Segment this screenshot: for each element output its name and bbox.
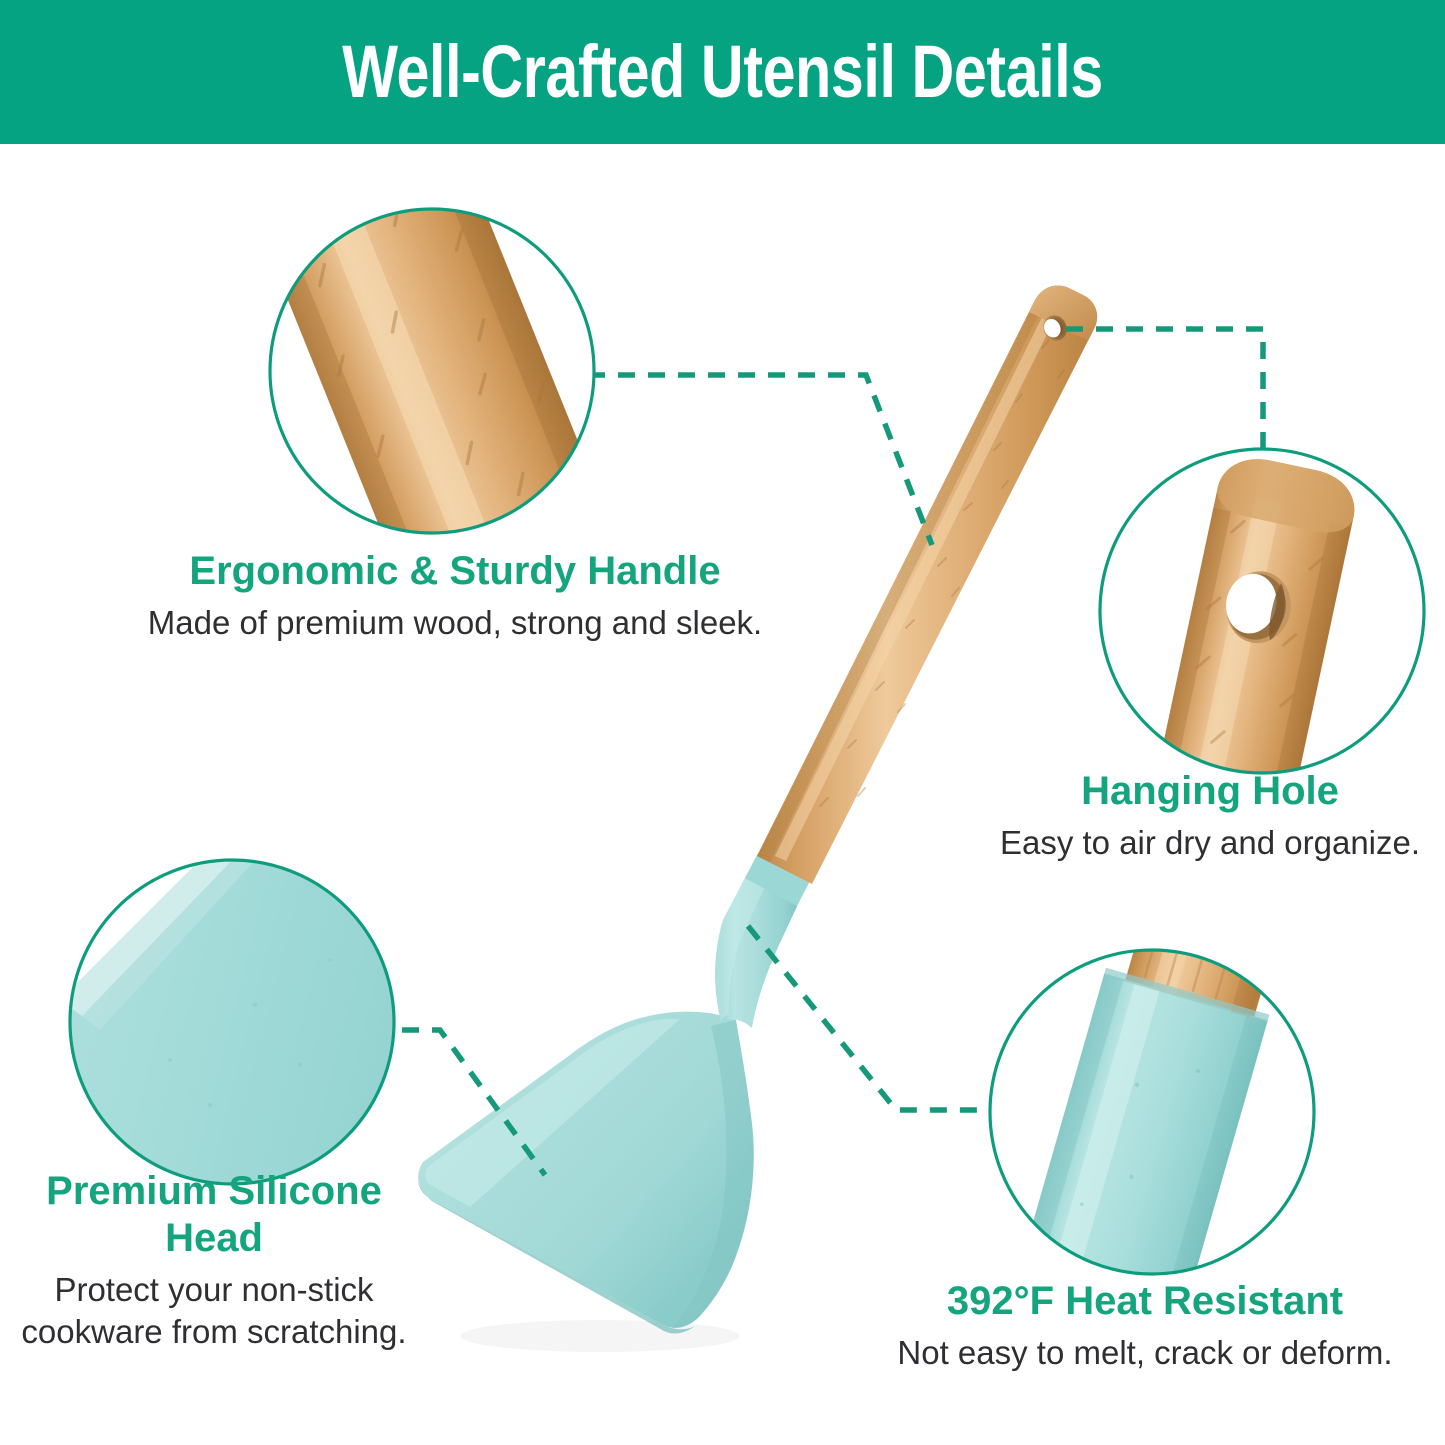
- detail-circle-silicone: [60, 846, 420, 1200]
- callout-description-heat-resistant: Not easy to melt, crack or deform.: [845, 1332, 1445, 1374]
- callout-title-silicone-head: Premium Silicone Head: [2, 1168, 426, 1262]
- blade-shadow: [460, 1320, 740, 1352]
- callout-title-heat-resistant: 392°F Heat Resistant: [845, 1278, 1445, 1325]
- callout-heat-resistant: 392°F Heat Resistant Not easy to melt, c…: [845, 1278, 1445, 1374]
- callout-hanging-hole: Hanging Hole Easy to air dry and organiz…: [975, 768, 1445, 864]
- callout-description-hanging-hole: Easy to air dry and organize.: [975, 822, 1445, 864]
- connector-heat: [748, 926, 990, 1110]
- callout-title-hanging-hole: Hanging Hole: [975, 768, 1445, 815]
- connector-hanging: [1066, 329, 1263, 449]
- callout-title-ergonomic-handle: Ergonomic & Sturdy Handle: [60, 548, 850, 595]
- infographic-page: Well-Crafted Utensil Details: [0, 0, 1445, 1445]
- connector-handle: [588, 375, 932, 545]
- callout-silicone-head: Premium Silicone Head Protect your non-s…: [2, 1168, 426, 1353]
- detail-circle-hanging: [1098, 447, 1428, 820]
- callout-ergonomic-handle: Ergonomic & Sturdy Handle Made of premiu…: [60, 548, 850, 644]
- callout-description-silicone-head: Protect your non-stick cookware from scr…: [2, 1269, 426, 1353]
- callout-description-ergonomic-handle: Made of premium wood, strong and sleek.: [60, 602, 850, 644]
- detail-circle-heat: [988, 902, 1318, 1337]
